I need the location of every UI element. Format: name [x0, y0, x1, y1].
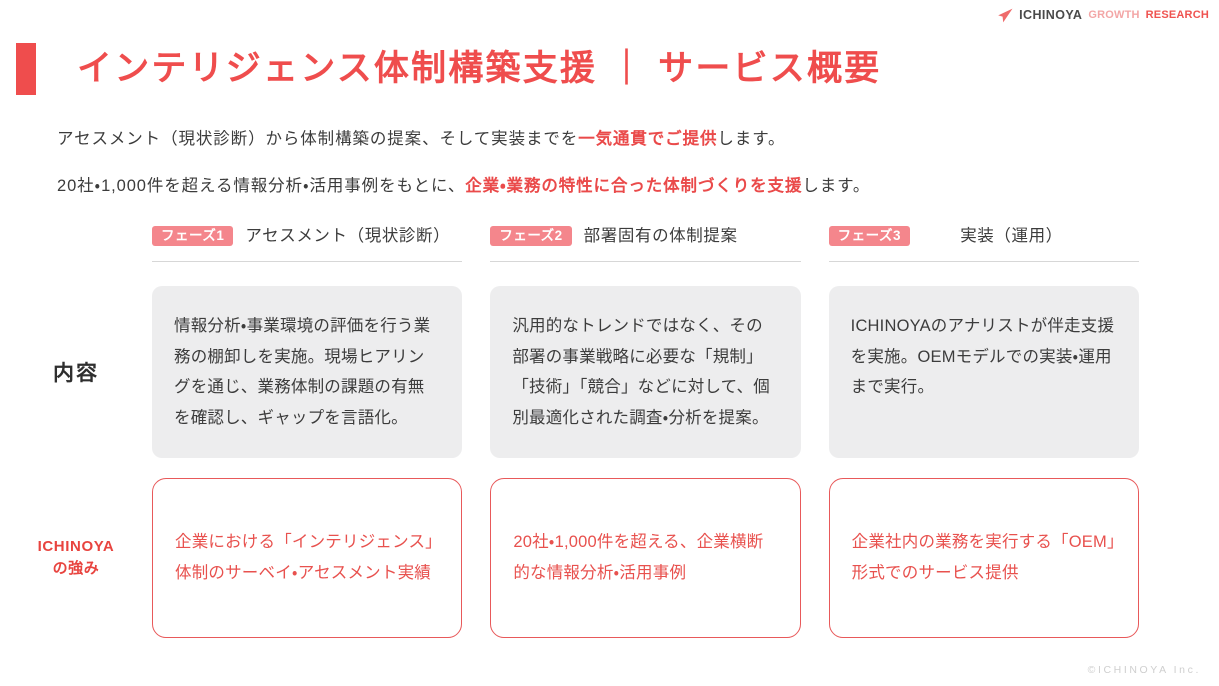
strength-card-3: 企業社内の業務を実行する「OEM」形式でのサービス提供	[829, 478, 1139, 638]
content-card-2: 汎用的なトレンドではなく、その部署の事業戦略に必要な「規制」「技術」「競合」など…	[490, 286, 800, 458]
phase-badge-2: フェーズ2	[490, 226, 571, 247]
lead-paragraph-2: 20社・1,000件を超える情報分析・活用事例をもとに、企業・業務の特性に合った…	[57, 174, 870, 199]
phase-name-3: 実装（運用）	[910, 228, 1139, 245]
lead-1-pre: アセスメント（現状診断）から体制構築の提案、そして実装までを	[57, 130, 578, 148]
phase-column-1: フェーズ1 アセスメント（現状診断）	[152, 218, 462, 270]
lead-1-highlight: 一気通貫でご提供	[578, 130, 717, 148]
content-cell-2: 汎用的なトレンドではなく、その部署の事業戦略に必要な「規制」「技術」「競合」など…	[490, 286, 800, 458]
phase-name-1: アセスメント（現状診断）	[245, 228, 450, 245]
strength-row: ICHINOYA の強み 企業における「インテリジェンス」体制のサーベイ・アセス…	[0, 478, 1219, 638]
content-cell-1: 情報分析・事業環境の評価を行う業務の棚卸しを実施。現場ヒアリングを通じ、業務体制…	[152, 286, 462, 458]
phase-header-row: フェーズ1 アセスメント（現状診断） フェーズ2 部署固有の体制提案 フェーズ3…	[0, 218, 1219, 270]
row-label-content-text: 内容	[53, 357, 99, 387]
brand-name: ICHINOYA	[1019, 8, 1082, 22]
lead-2-highlight: 企業・業務の特性に合った体制づくりを支援	[465, 177, 802, 195]
phase-header-2: フェーズ2 部署固有の体制提案	[490, 218, 800, 262]
lead-paragraph-1: アセスメント（現状診断）から体制構築の提案、そして実装までを一気通貫でご提供しま…	[57, 127, 785, 152]
title-row: インテリジェンス体制構築支援 ｜ サービス概要	[16, 28, 1219, 110]
header-row-spacer	[0, 218, 152, 270]
arrow-mark-icon	[996, 8, 1013, 23]
brand-logo: ICHINOYA GROWTH RESEARCH	[996, 6, 1209, 24]
phase-badge-1: フェーズ1	[152, 226, 233, 247]
strength-cell-1: 企業における「インテリジェンス」体制のサーベイ・アセスメント実績	[152, 478, 462, 638]
phase-header-3: フェーズ3 実装（運用）	[829, 218, 1139, 262]
lead-2-post: します。	[802, 177, 870, 195]
brand-growth-word: GROWTH	[1088, 9, 1139, 21]
content-cell-3: ICHINOYAのアナリストが伴走支援を実施。OEMモデルでの実装・運用まで実行…	[829, 286, 1139, 458]
phase-header-1: フェーズ1 アセスメント（現状診断）	[152, 218, 462, 262]
phase-matrix: フェーズ1 アセスメント（現状診断） フェーズ2 部署固有の体制提案 フェーズ3…	[0, 218, 1219, 638]
footer-copyright: ©ICHINOYA Inc.	[1088, 664, 1201, 676]
phase-name-2: 部署固有の体制提案	[584, 228, 738, 245]
phase-badge-3: フェーズ3	[829, 226, 910, 247]
content-card-3: ICHINOYAのアナリストが伴走支援を実施。OEMモデルでの実装・運用まで実行…	[829, 286, 1139, 458]
row-label-content: 内容	[0, 286, 152, 458]
strength-cell-2: 20社・1,000件を超える、企業横断的な情報分析・活用事例	[490, 478, 800, 638]
content-row: 内容 情報分析・事業環境の評価を行う業務の棚卸しを実施。現場ヒアリングを通じ、業…	[0, 286, 1219, 458]
row-label-strength: ICHINOYA の強み	[0, 478, 152, 638]
strength-cell-3: 企業社内の業務を実行する「OEM」形式でのサービス提供	[829, 478, 1139, 638]
page-title: インテリジェンス体制構築支援 ｜ サービス概要	[77, 51, 881, 86]
lead-2-pre: 20社・1,000件を超える情報分析・活用事例をもとに、	[57, 177, 465, 195]
row-label-strength-line1: ICHINOYA	[38, 538, 115, 555]
content-card-1: 情報分析・事業環境の評価を行う業務の棚卸しを実施。現場ヒアリングを通じ、業務体制…	[152, 286, 462, 458]
phase-column-3: フェーズ3 実装（運用）	[829, 218, 1139, 270]
title-accent-bar	[16, 43, 36, 95]
row-label-strength-text: ICHINOYA の強み	[38, 536, 115, 580]
strength-card-1: 企業における「インテリジェンス」体制のサーベイ・アセスメント実績	[152, 478, 462, 638]
row-label-strength-line2: の強み	[53, 560, 100, 577]
lead-1-post: します。	[717, 130, 785, 148]
brand-research-word: RESEARCH	[1146, 9, 1209, 21]
phase-column-2: フェーズ2 部署固有の体制提案	[490, 218, 800, 270]
strength-card-2: 20社・1,000件を超える、企業横断的な情報分析・活用事例	[490, 478, 800, 638]
